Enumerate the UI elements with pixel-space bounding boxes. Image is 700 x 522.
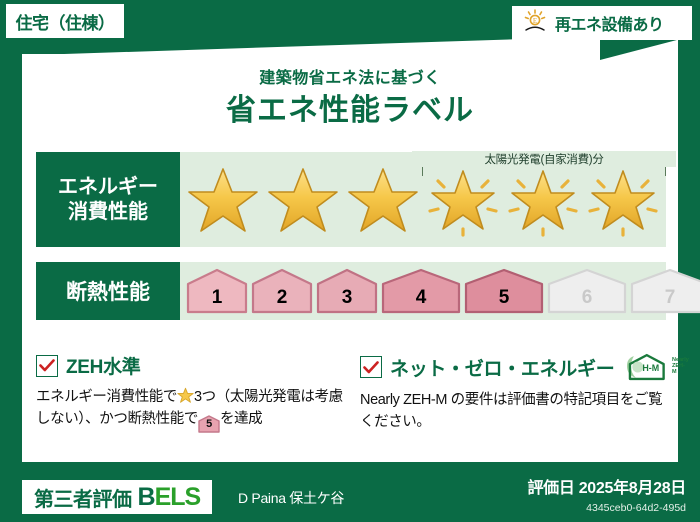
insulation-badge-value: 1: [212, 287, 223, 309]
zeh-standard-title: ZEH水準: [66, 352, 141, 379]
insulation-grade-badges: 1 2 3 4: [186, 268, 700, 314]
bels-letters-els: ELS: [155, 483, 201, 511]
solar-bracket: [422, 166, 666, 176]
insulation-badge-7: 7: [630, 268, 700, 314]
insulation-label-box: 断熱性能: [36, 262, 180, 320]
insulation-badge-inline-value: 5: [206, 418, 212, 430]
net-zero-energy-section: ネット・ゼロ・エネルギー H-M Nearly ZEH-M Nearly ZEH…: [360, 352, 672, 434]
energy-label-line1: エネルギー: [58, 175, 158, 200]
zeh-body-post: を達成: [220, 411, 262, 427]
building-name: D Paina 保土ケ谷: [238, 488, 344, 508]
insulation-body: 1 2 3 4: [180, 262, 666, 320]
energy-performance-label-box: エネルギー 消費性能: [36, 152, 180, 247]
energy-performance-row: エネルギー 消費性能 太陽光発電(自家消費)分: [36, 152, 666, 247]
zeh-standard-section: ZEH水準 エネルギー消費性能で3つ（太陽光発電は考慮しない）、かつ断熱性能で5…: [36, 352, 346, 433]
energy-performance-label: 住宅（住棟） E 再エネ設備あり 建築物省エネ法に基づく 省エネ性能ラベル: [0, 0, 700, 522]
insulation-badge-value: 4: [416, 287, 427, 309]
bels-certification-mark: 第三者評価 BELS: [22, 480, 212, 514]
star-filled: [184, 163, 262, 237]
zeh-m-logo-icon: H-M Nearly ZEH-M: [624, 352, 689, 382]
insulation-badge-4: 4: [381, 268, 461, 314]
insulation-performance-row: 断熱性能 1 2: [36, 262, 666, 320]
third-party-evaluation-label: 第三者評価: [34, 483, 132, 512]
insulation-badge-2: 2: [251, 268, 313, 314]
zeh-standard-body: エネルギー消費性能で3つ（太陽光発電は考慮しない）、かつ断熱性能で5を達成: [36, 386, 346, 433]
insulation-badge-value: 5: [499, 287, 510, 309]
star-icon-inline: [177, 387, 194, 404]
sun-icon: E: [522, 8, 548, 39]
net-zero-energy-body: Nearly ZEH-M の要件は評価書の特記項目をご覧ください。: [360, 389, 672, 434]
certificate-id: 4345ceb0-64d2-495d: [586, 502, 686, 514]
renewable-badge-label: 再エネ設備あり: [555, 11, 664, 35]
check-icon: [360, 356, 382, 378]
zeh-body-pre: エネルギー消費性能で: [36, 389, 177, 405]
insulation-badge-value: 3: [342, 287, 353, 309]
energy-performance-body: 太陽光発電(自家消費)分: [180, 152, 666, 247]
insulation-badge-inline: 5: [198, 415, 220, 433]
net-zero-energy-title: ネット・ゼロ・エネルギー: [390, 354, 614, 381]
svg-text:E: E: [533, 17, 537, 25]
zeh-m-logo-sub2: ZEH-M: [672, 364, 689, 376]
insulation-label: 断熱性能: [66, 276, 150, 306]
svg-text:H-M: H-M: [643, 363, 660, 373]
housing-type-label: 住宅（住棟）: [16, 9, 115, 34]
renewable-energy-badge: E 再エネ設備あり: [512, 6, 692, 40]
insulation-badge-value: 2: [277, 287, 288, 309]
energy-label-line2: 消費性能: [68, 200, 148, 225]
evaluation-date: 評価日 2025年8月28日: [527, 474, 686, 498]
zeh-standard-header: ZEH水準: [36, 352, 346, 379]
star-filled: [344, 163, 422, 237]
insulation-badge-value: 7: [665, 287, 676, 309]
insulation-badge-6: 6: [547, 268, 627, 314]
label-title: 省エネ性能ラベル: [0, 85, 700, 129]
housing-type-tag: 住宅（住棟）: [6, 4, 124, 38]
evaluation-date-value: 2025年8月28日: [579, 480, 686, 497]
bels-wordmark: BELS: [138, 483, 201, 512]
net-zero-energy-header: ネット・ゼロ・エネルギー H-M Nearly ZEH-M: [360, 352, 672, 382]
solar-caption: 太陽光発電(自家消費)分: [412, 151, 676, 167]
insulation-badge-5: 5: [464, 268, 544, 314]
check-icon: [36, 355, 58, 377]
insulation-badge-value: 6: [582, 287, 593, 309]
bels-letter-b: B: [138, 483, 155, 511]
star-filled: [264, 163, 342, 237]
insulation-badge-3: 3: [316, 268, 378, 314]
evaluation-date-label: 評価日: [527, 480, 574, 497]
insulation-badge-1: 1: [186, 268, 248, 314]
